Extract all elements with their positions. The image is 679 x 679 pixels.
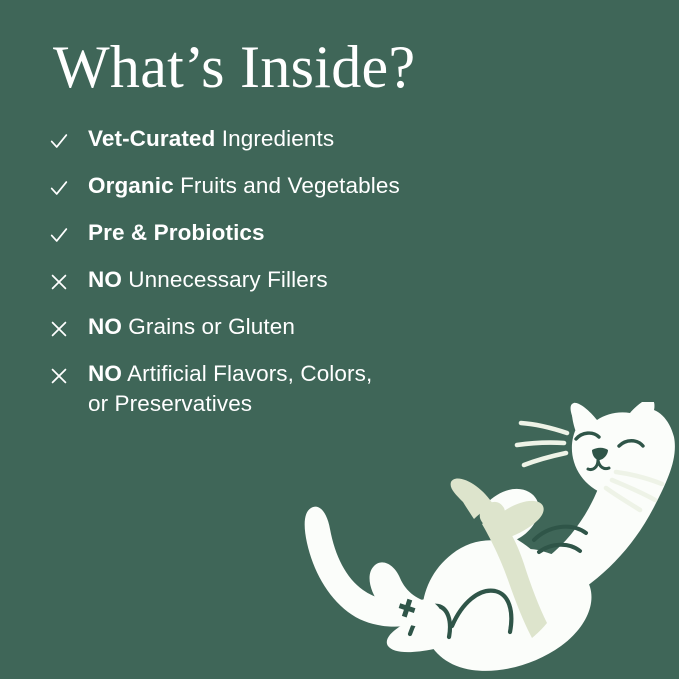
check-icon: [48, 220, 88, 250]
benefit-rest: Grains or Gluten: [122, 314, 295, 339]
benefit-lead: Vet-Curated: [88, 126, 215, 151]
benefit-text: Vet-Curated Ingredients: [88, 124, 608, 154]
poster-canvas: What’s Inside? Vet-Curated IngredientsOr…: [0, 0, 679, 679]
cross-icon: [48, 361, 88, 391]
benefit-row: Vet-Curated Ingredients: [48, 124, 608, 156]
benefit-text: Pre & Probiotics: [88, 218, 608, 248]
benefit-rest: Artificial Flavors, Colors,: [122, 361, 372, 386]
benefit-lead: Organic: [88, 173, 174, 198]
benefit-row: NO Unnecessary Fillers: [48, 265, 608, 297]
cat-whiskers-left-icon: [517, 423, 567, 465]
reclining-cat-illustration: [286, 402, 679, 679]
benefit-row: Organic Fruits and Vegetables: [48, 171, 608, 203]
page-title: What’s Inside?: [53, 36, 415, 99]
benefit-lead: NO: [88, 267, 122, 292]
benefit-rest: Ingredients: [215, 126, 334, 151]
benefits-list: Vet-Curated IngredientsOrganic Fruits an…: [48, 124, 608, 434]
benefit-text: NO Grains or Gluten: [88, 312, 608, 342]
benefit-rest: Fruits and Vegetables: [174, 173, 400, 198]
benefit-rest: Unnecessary Fillers: [122, 267, 328, 292]
benefit-lead: NO: [88, 361, 122, 386]
benefit-lead: NO: [88, 314, 122, 339]
benefit-second-line: or Preservatives: [88, 391, 252, 416]
check-icon: [48, 126, 88, 156]
check-icon: [48, 173, 88, 203]
cross-icon: [48, 314, 88, 344]
benefit-row: NO Grains or Gluten: [48, 312, 608, 344]
benefit-row: Pre & Probiotics: [48, 218, 608, 250]
benefit-text: NO Unnecessary Fillers: [88, 265, 608, 295]
benefit-text: Organic Fruits and Vegetables: [88, 171, 608, 201]
cross-icon: [48, 267, 88, 297]
benefit-lead: Pre & Probiotics: [88, 220, 265, 245]
